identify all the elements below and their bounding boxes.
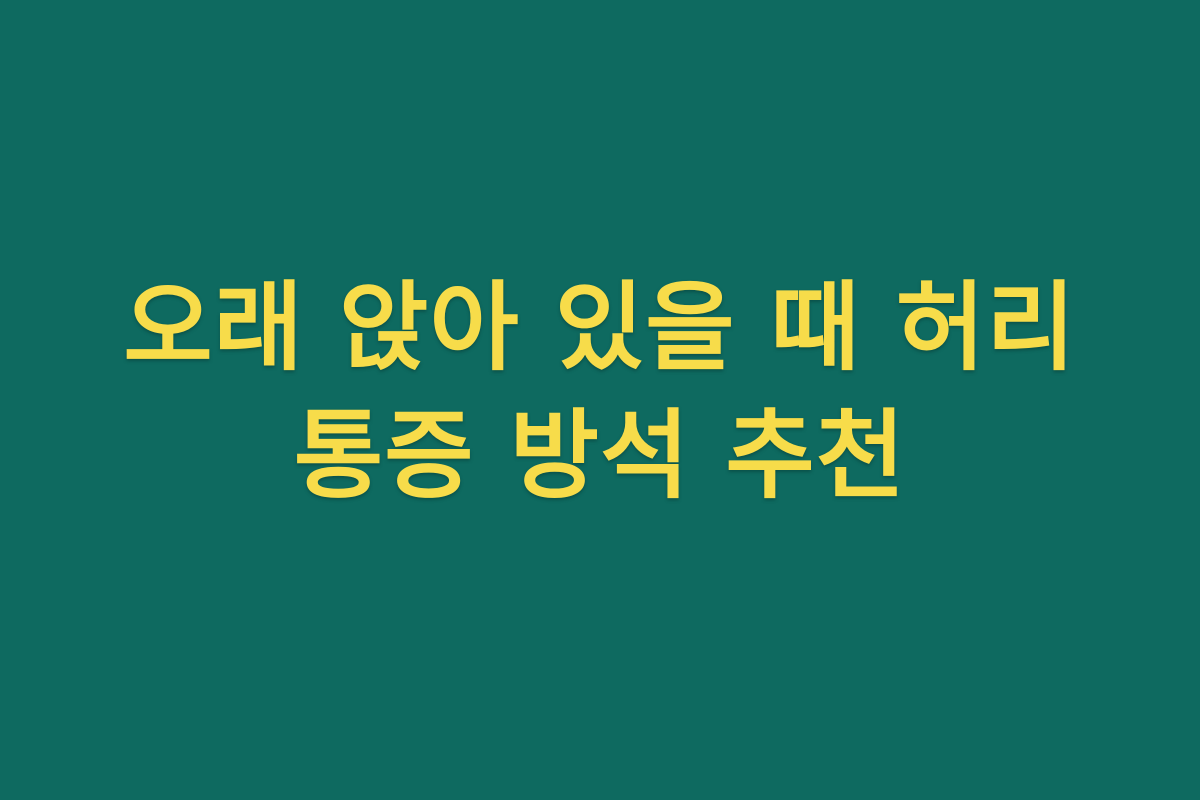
headline-block: 오래 앉아 있을 때 허리 통증 방석 추천 — [0, 264, 1200, 520]
headline-line-2: 통증 방석 추천 — [0, 392, 1200, 520]
headline-line-1: 오래 앉아 있을 때 허리 — [0, 264, 1200, 392]
thumbnail-banner: 오래 앉아 있을 때 허리 통증 방석 추천 — [0, 0, 1200, 800]
